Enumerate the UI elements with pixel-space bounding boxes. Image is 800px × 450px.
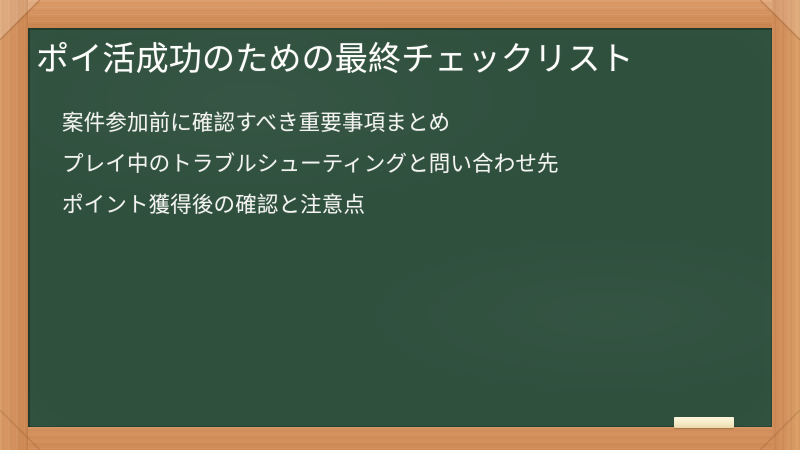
wood-grain-texture [0, 427, 800, 450]
wood-grain-texture [0, 0, 800, 28]
chalk-stick-icon [674, 417, 734, 428]
bullet-item: 案件参加前に確認すべき重要事項まとめ [62, 108, 734, 139]
bullet-item: ポイント獲得後の確認と注意点 [62, 190, 734, 221]
bullet-item: プレイ中のトラブルシューティングと問い合わせ先 [62, 149, 734, 180]
slide-title: ポイ活成功のための最終チェックリスト [32, 32, 748, 81]
frame-band-bottom [0, 427, 800, 450]
frame-band-right [772, 0, 800, 450]
frame-band-left [0, 0, 28, 450]
wood-grain-texture [772, 0, 800, 450]
chalkboard-surface: ポイ活成功のための最終チェックリスト 案件参加前に確認すべき重要事項まとめ プレ… [28, 28, 772, 427]
frame-band-top [0, 0, 800, 28]
bullet-list: 案件参加前に確認すべき重要事項まとめ プレイ中のトラブルシューティングと問い合わ… [32, 108, 756, 221]
chalkboard-slide: ポイ活成功のための最終チェックリスト 案件参加前に確認すべき重要事項まとめ プレ… [0, 0, 800, 450]
board-content: ポイ活成功のための最終チェックリスト 案件参加前に確認すべき重要事項まとめ プレ… [28, 28, 772, 221]
wood-grain-texture [0, 0, 28, 450]
